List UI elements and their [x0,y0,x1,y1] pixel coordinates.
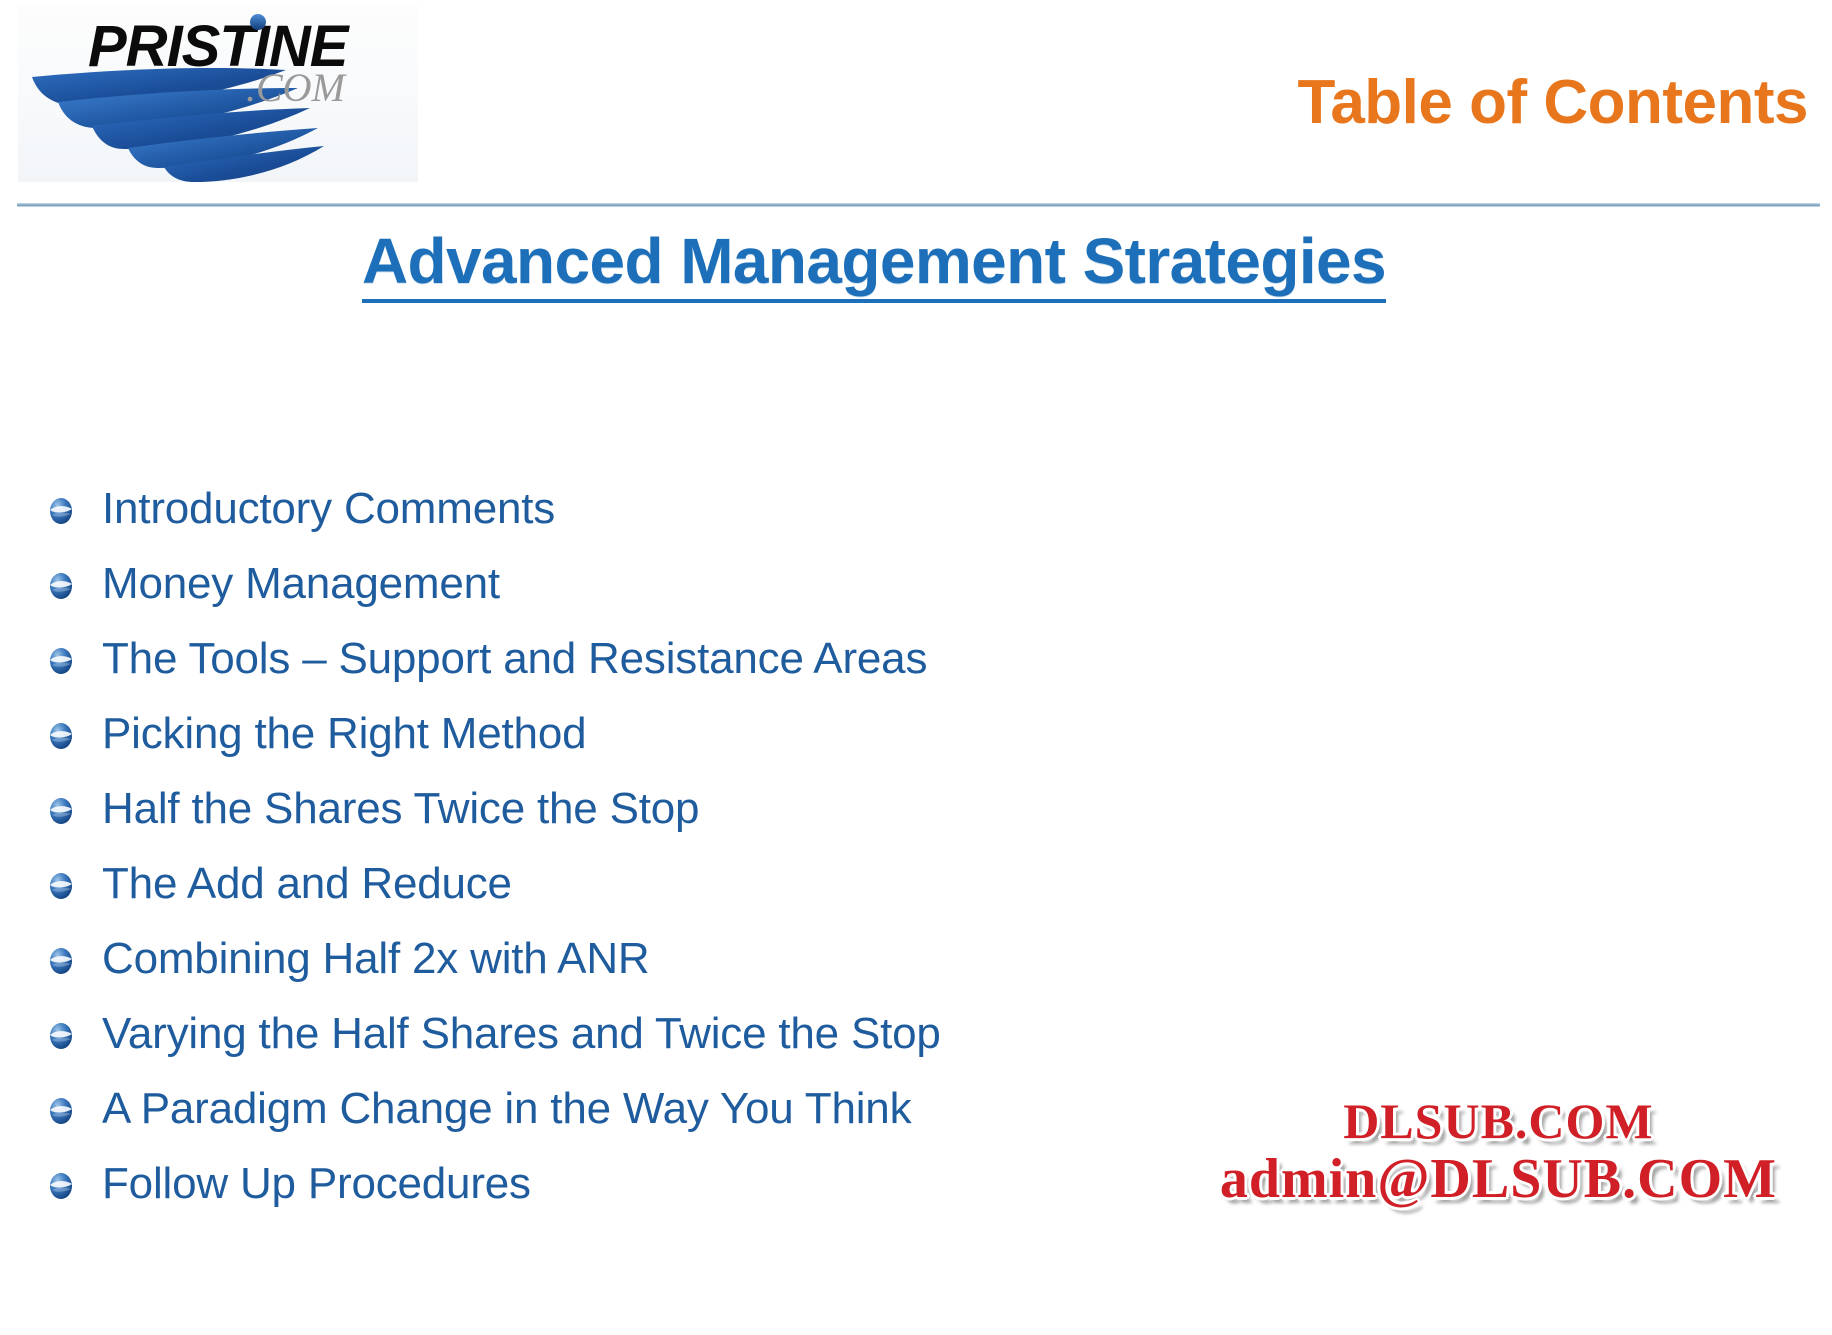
toc-item-label: Picking the Right Method [102,710,586,758]
blue-globe-bullet-icon [46,1096,76,1126]
blue-globe-bullet-icon [46,646,76,676]
toc-item-label: Money Management [102,560,500,608]
toc-item-5[interactable]: The Add and Reduce [46,847,1346,922]
toc-item-2[interactable]: The Tools – Support and Resistance Areas [46,622,1346,697]
toc-item-1[interactable]: Money Management [46,547,1346,622]
toc-item-4[interactable]: Half the Shares Twice the Stop [46,772,1346,847]
slide-heading: Advanced Management Strategies [362,228,1386,303]
blue-globe-bullet-icon [46,946,76,976]
blue-globe-bullet-icon [46,871,76,901]
toc-item-label: Half the Shares Twice the Stop [102,785,699,833]
blue-globe-bullet-icon [46,721,76,751]
toc-item-label: Follow Up Procedures [102,1160,531,1208]
toc-item-3[interactable]: Picking the Right Method [46,697,1346,772]
toc-item-label: The Add and Reduce [102,860,512,908]
toc-item-7[interactable]: Varying the Half Shares and Twice the St… [46,997,1346,1072]
toc-item-8[interactable]: A Paradigm Change in the Way You Think [46,1072,1346,1147]
blue-globe-bullet-icon [46,496,76,526]
main-heading-container: Advanced Management Strategies [0,228,1832,303]
logo-i-dot [250,14,266,30]
pristine-logo-icon: .COM PRISTINE [18,4,418,182]
blue-globe-bullet-icon [46,1171,76,1201]
toc-item-label: A Paradigm Change in the Way You Think [102,1085,911,1133]
header-divider [17,203,1820,207]
page-title: Table of Contents [1298,72,1808,134]
toc-item-6[interactable]: Combining Half 2x with ANR [46,922,1346,997]
blue-globe-bullet-icon [46,1021,76,1051]
toc-item-label: Introductory Comments [102,485,555,533]
toc-item-0[interactable]: Introductory Comments [46,472,1346,547]
blue-globe-bullet-icon [46,571,76,601]
slide-canvas: .COM PRISTINE Table of Contents Advanced… [0,0,1832,1335]
toc-item-9[interactable]: Follow Up Procedures [46,1147,1346,1222]
blue-globe-bullet-icon [46,796,76,826]
toc-item-label: Combining Half 2x with ANR [102,935,649,983]
table-of-contents-list: Introductory CommentsMoney ManagementThe… [46,472,1346,1222]
logo-wordmark-text: PRISTINE [88,14,351,79]
slide-header: .COM PRISTINE Table of Contents [0,0,1832,208]
toc-item-label: The Tools – Support and Resistance Areas [102,635,927,683]
toc-item-label: Varying the Half Shares and Twice the St… [102,1010,941,1058]
pristine-logo: .COM PRISTINE [18,4,418,182]
